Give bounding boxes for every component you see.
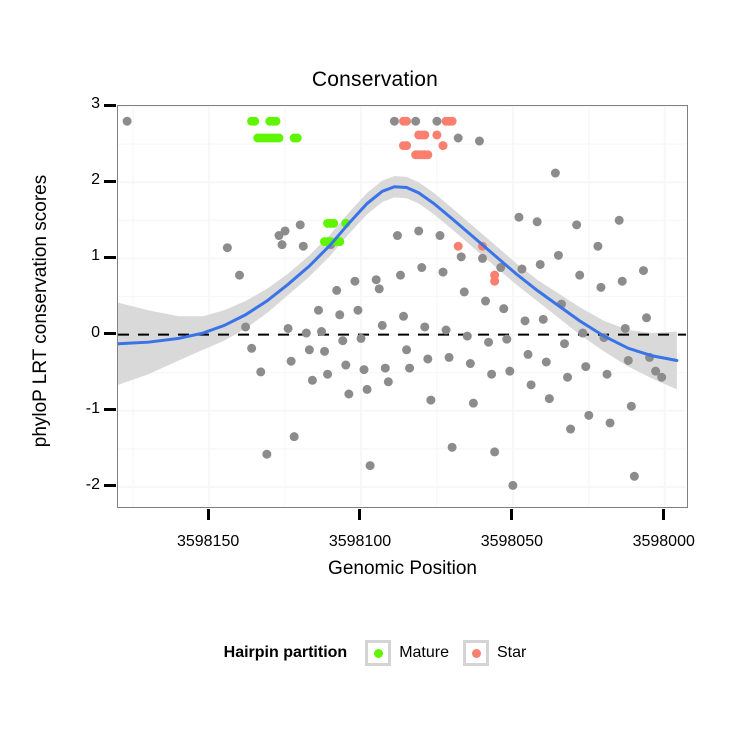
scatter-points (123, 117, 667, 490)
y-tick-label: 0 (60, 324, 100, 342)
page-title: Conservation (0, 68, 750, 92)
legend-entries: MatureStar (365, 640, 526, 666)
y-tick-label: -2 (60, 476, 100, 494)
x-tick-mark (510, 509, 513, 520)
legend-label: Mature (399, 644, 449, 662)
legend-title: Hairpin partition (224, 644, 348, 662)
legend-key-swatch (463, 640, 489, 666)
y-tick-label: 2 (60, 171, 100, 189)
x-tick-label: 3598000 (614, 533, 714, 551)
legend-entry-star[interactable]: Star (463, 640, 526, 666)
legend-key-swatch (365, 640, 391, 666)
x-axis-title: Genomic Position (117, 558, 688, 580)
confidence-band (118, 176, 677, 389)
y-tick-mark (104, 104, 116, 107)
legend-dot-icon (472, 649, 481, 658)
chart-root: Conservation phyloP LRT conservation sco… (0, 0, 750, 750)
x-tick-label: 3598150 (158, 533, 258, 551)
y-tick-mark (104, 332, 116, 335)
x-tick-label: 3598050 (462, 533, 562, 551)
legend-label: Star (497, 644, 526, 662)
y-tick-label: 1 (60, 247, 100, 265)
y-tick-mark (104, 408, 116, 411)
series-other (123, 117, 667, 490)
plot-svg (118, 106, 686, 506)
legend-dot-icon (374, 649, 383, 658)
x-tick-mark (662, 509, 665, 520)
y-tick-mark (104, 484, 116, 487)
x-tick-mark (207, 509, 210, 520)
y-tick-mark (104, 256, 116, 259)
legend-entry-mature[interactable]: Mature (365, 640, 449, 666)
grid-layer (118, 106, 686, 506)
y-tick-label: 3 (60, 95, 100, 113)
y-axis-title: phyloP LRT conservation scores (30, 106, 52, 516)
legend: Hairpin partition MatureStar (0, 640, 750, 666)
x-tick-mark (358, 509, 361, 520)
y-tick-label: -1 (60, 400, 100, 418)
plot-panel (117, 105, 688, 508)
y-tick-mark (104, 180, 116, 183)
x-tick-label: 3598100 (310, 533, 410, 551)
